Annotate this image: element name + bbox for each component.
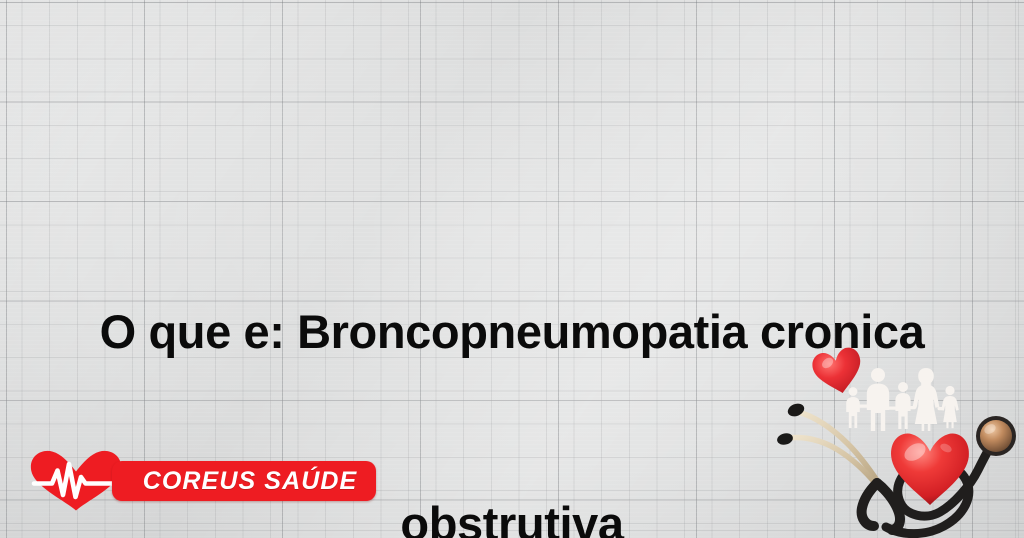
poster-canvas: O que e: Broncopneumopatia cronica obstr… [0, 0, 1024, 538]
medical-illustration [770, 338, 1024, 538]
brand-name-label: COREUS SAÚDE [112, 461, 376, 501]
brand-logo[interactable]: COREUS SAÚDE [28, 448, 348, 512]
large-heart-icon [888, 428, 972, 508]
brand-badge: COREUS SAÚDE [112, 461, 376, 501]
heart-pulse-icon [28, 450, 124, 512]
